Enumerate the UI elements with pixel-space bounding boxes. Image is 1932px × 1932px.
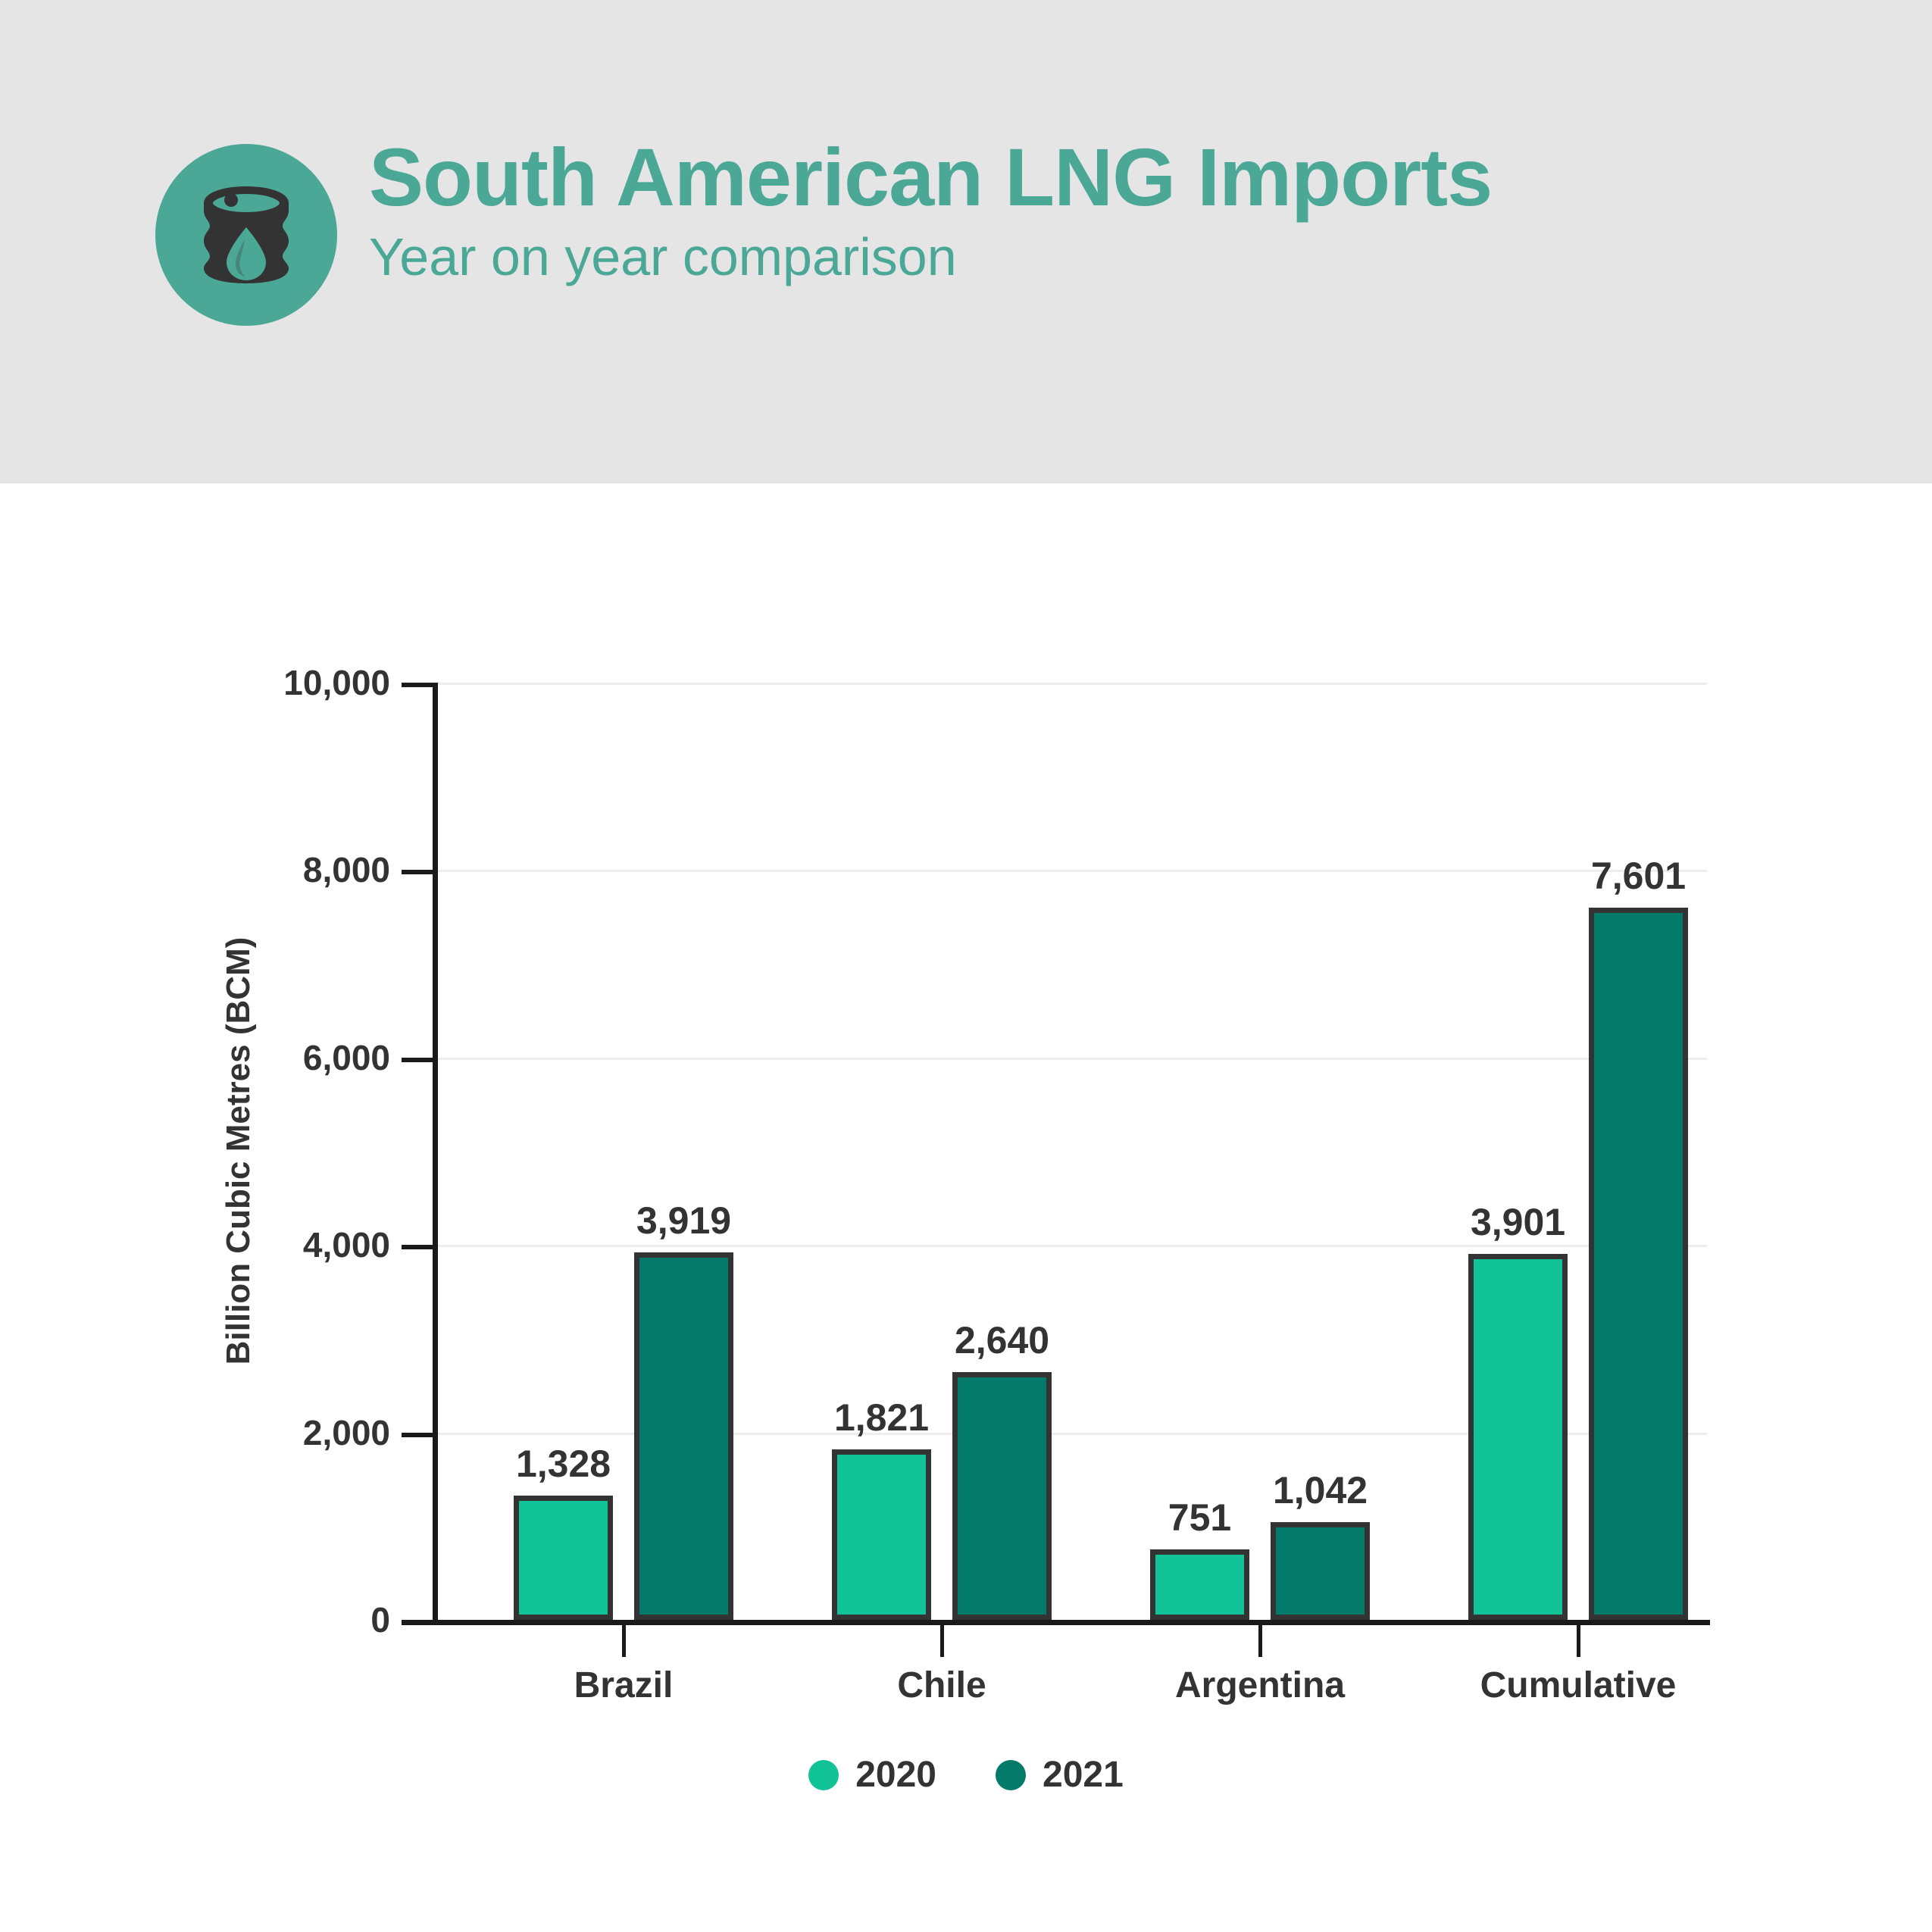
y-tick-4000 — [402, 1245, 433, 1249]
bar-cumulative-2021[interactable]: 7,601 — [1589, 908, 1688, 1620]
logo-circle — [155, 144, 337, 326]
bar-group-cumulative: 3,901 7,601 — [1451, 683, 1705, 1620]
legend-item-2021[interactable]: 2021 — [996, 1754, 1124, 1796]
y-tick-label-0: 0 — [370, 1599, 390, 1640]
x-tick-label-cumulative: Cumulative — [1480, 1665, 1677, 1706]
legend-label-2020: 2020 — [855, 1754, 936, 1796]
bar-group-chile: 1,821 2,640 — [814, 683, 1069, 1620]
chart-container: 10,000 8,000 6,000 4,000 2,000 0 Billion… — [0, 483, 1932, 1932]
x-tick-label-argentina: Argentina — [1175, 1665, 1345, 1706]
y-tick-label-4000: 4,000 — [303, 1224, 390, 1265]
bar-value-chile-2020: 1,821 — [834, 1396, 929, 1440]
chart-legend: 2020 2021 — [0, 1754, 1932, 1796]
y-tick-label-10000: 10,000 — [283, 662, 390, 703]
plot-area: 10,000 8,000 6,000 4,000 2,000 0 Billion… — [436, 683, 1707, 1620]
y-tick-label-2000: 2,000 — [303, 1412, 390, 1453]
bar-value-argentina-2020: 751 — [1168, 1496, 1231, 1540]
x-tick-brazil — [622, 1622, 626, 1657]
legend-item-2020[interactable]: 2020 — [808, 1754, 936, 1796]
x-tick-cumulative — [1577, 1622, 1580, 1657]
x-tick-argentina — [1258, 1622, 1262, 1657]
y-tick-0 — [402, 1620, 433, 1624]
legend-label-2021: 2021 — [1043, 1754, 1124, 1796]
bar-chile-2021[interactable]: 2,640 — [952, 1372, 1052, 1620]
legend-swatch-2021 — [996, 1760, 1026, 1790]
page-title: South American LNG Imports — [369, 135, 1869, 220]
y-tick-6000 — [402, 1058, 433, 1062]
bar-value-argentina-2021: 1,042 — [1273, 1468, 1368, 1512]
bar-chile-2020[interactable]: 1,821 — [832, 1449, 931, 1620]
bar-value-cumulative-2021: 7,601 — [1591, 854, 1686, 898]
y-tick-10000 — [402, 683, 433, 687]
bar-value-chile-2021: 2,640 — [955, 1318, 1049, 1362]
brand-logo — [155, 144, 337, 326]
title-block: South American LNG Imports Year on year … — [369, 135, 1869, 283]
y-tick-label-6000: 6,000 — [303, 1037, 390, 1078]
page-header: South American LNG Imports Year on year … — [0, 0, 1932, 483]
x-tick-label-brazil: Brazil — [574, 1665, 674, 1706]
y-tick-8000 — [402, 870, 433, 874]
bar-argentina-2020[interactable]: 751 — [1150, 1549, 1249, 1620]
x-tick-label-chile: Chile — [897, 1665, 986, 1706]
y-tick-label-8000: 8,000 — [303, 849, 390, 890]
bar-value-cumulative-2020: 3,901 — [1471, 1200, 1565, 1244]
x-tick-chile — [940, 1622, 944, 1657]
legend-swatch-2020 — [808, 1760, 839, 1790]
y-axis-title: Billion Cubic Metres (BCM) — [220, 937, 258, 1365]
bars-layer: 1,328 3,919 1,821 2,640 751 — [436, 683, 1707, 1620]
page-subtitle: Year on year comparison — [369, 230, 1869, 283]
bar-cumulative-2020[interactable]: 3,901 — [1468, 1254, 1568, 1620]
bar-group-argentina: 751 1,042 — [1133, 683, 1387, 1620]
bar-group-brazil: 1,328 3,919 — [496, 683, 751, 1620]
bar-value-brazil-2021: 3,919 — [636, 1199, 731, 1243]
bar-value-brazil-2020: 1,328 — [516, 1442, 611, 1486]
bar-brazil-2021[interactable]: 3,919 — [634, 1252, 733, 1620]
bar-brazil-2020[interactable]: 1,328 — [514, 1496, 613, 1620]
bar-argentina-2021[interactable]: 1,042 — [1271, 1522, 1370, 1620]
y-tick-2000 — [402, 1433, 433, 1437]
x-axis-line — [402, 1620, 1710, 1625]
